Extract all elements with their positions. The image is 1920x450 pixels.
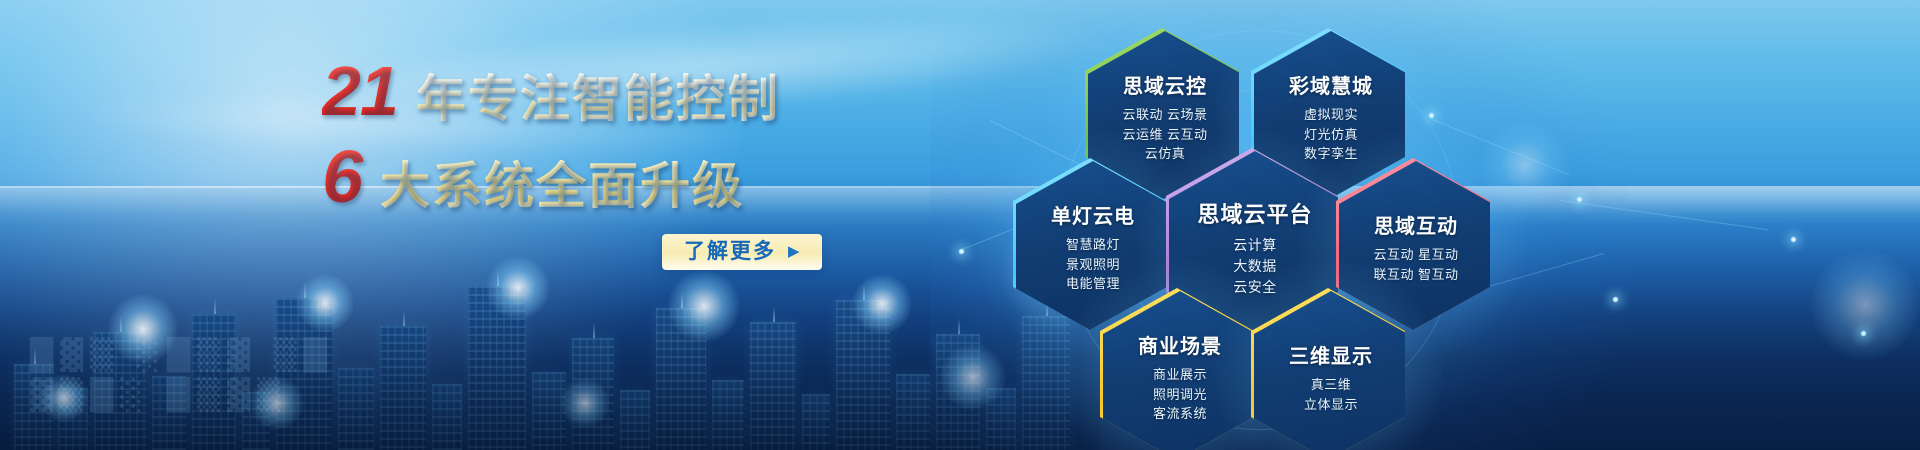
hexagon-feature-item: 照明调光 bbox=[1153, 385, 1207, 405]
hexagon-title: 商业场景 bbox=[1138, 330, 1222, 359]
hexagon-feature-item: 商业展示 bbox=[1153, 365, 1207, 385]
hexagon-title: 思域互动 bbox=[1374, 210, 1458, 239]
hexagon-feature-item: 云计算 bbox=[1233, 235, 1277, 256]
hexagon-feature-item: 云联动 云场景 bbox=[1122, 105, 1207, 125]
hexagon-feature-list: 云互动 星互动联互动 智互动 bbox=[1373, 245, 1458, 284]
hexagon-feature-item: 立体显示 bbox=[1304, 395, 1358, 415]
hexagon-cluster: 思域云控云联动 云场景云运维 云互动云仿真彩域慧城虚拟现实灯光仿真数字孪生单灯云… bbox=[0, 0, 1920, 450]
hexagon-feature-list: 云联动 云场景云运维 云互动云仿真 bbox=[1122, 105, 1207, 164]
hexagon-feature-list: 真三维立体显示 bbox=[1304, 375, 1358, 414]
hexagon-feature-item: 大数据 bbox=[1233, 256, 1277, 277]
hexagon-feature-item: 云运维 云互动 bbox=[1122, 125, 1207, 145]
hexagon-feature-item: 云仿真 bbox=[1122, 144, 1207, 164]
hexagon-feature-item: 虚拟现实 bbox=[1304, 105, 1358, 125]
hexagon-feature-list: 商业展示照明调光客流系统 bbox=[1153, 365, 1207, 424]
hexagon-feature-list: 云计算大数据云安全 bbox=[1233, 235, 1277, 298]
hexagon-feature-item: 联互动 智互动 bbox=[1373, 265, 1458, 285]
hexagon-feature-list: 智慧路灯景观照明电能管理 bbox=[1066, 235, 1120, 294]
hexagon-feature-item: 云互动 星互动 bbox=[1373, 245, 1458, 265]
hexagon-title: 思域云控 bbox=[1123, 70, 1207, 99]
hexagon-title: 思域云平台 bbox=[1197, 197, 1312, 229]
hexagon-feature-item: 真三维 bbox=[1304, 375, 1358, 395]
hexagon-feature-item: 灯光仿真 bbox=[1304, 125, 1358, 145]
hexagon-title: 彩域慧城 bbox=[1289, 70, 1373, 99]
hexagon-title: 单灯云电 bbox=[1051, 200, 1135, 229]
hexagon-feature-list: 虚拟现实灯光仿真数字孪生 bbox=[1304, 105, 1358, 164]
hexagon-feature-item: 客流系统 bbox=[1153, 404, 1207, 424]
hexagon-feature-item: 电能管理 bbox=[1066, 274, 1120, 294]
hexagon-feature-item: 云安全 bbox=[1233, 277, 1277, 298]
hexagon-feature-item: 景观照明 bbox=[1066, 255, 1120, 275]
hexagon-title: 三维显示 bbox=[1289, 340, 1373, 369]
promo-banner: █▓▒ ░█▒▓ ▒█ ▓▒█░ █▒▓▒ 21 年专注智能控制 6 大系统全面… bbox=[0, 0, 1920, 450]
hexagon-siyu-interactive[interactable]: 思域互动云互动 星互动联互动 智互动 bbox=[1336, 158, 1490, 330]
hexagon-feature-item: 智慧路灯 bbox=[1066, 235, 1120, 255]
hexagon-feature-item: 数字孪生 bbox=[1304, 144, 1358, 164]
